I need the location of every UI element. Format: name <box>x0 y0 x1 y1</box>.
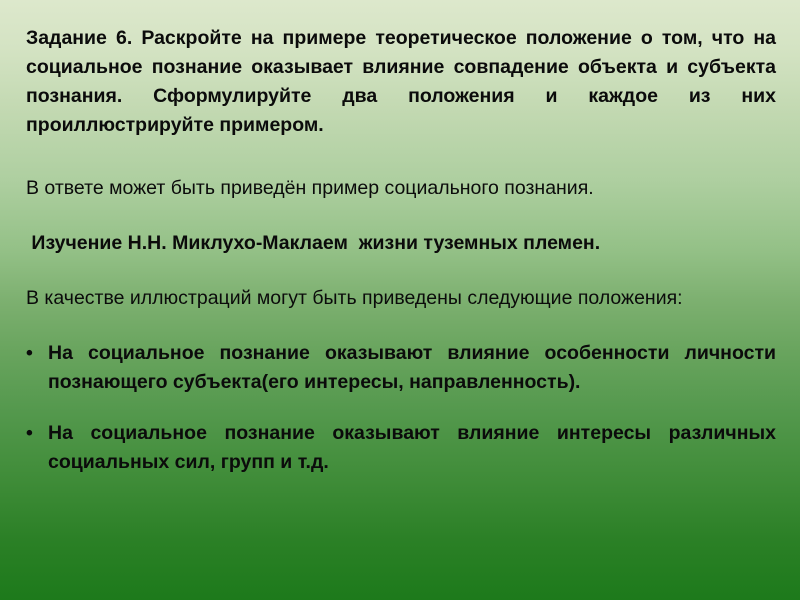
slide-canvas: Задание 6. Раскройте на примере теоретич… <box>0 0 800 600</box>
spacer-between-bullets <box>26 397 776 419</box>
spacer-after-illustration-intro <box>26 313 776 339</box>
spacer-after-example <box>26 258 776 284</box>
example-statement: Изучение Н.Н. Миклухо-Маклаем жизни тузе… <box>26 229 776 258</box>
answer-intro-paragraph: В ответе может быть приведён пример соци… <box>26 174 776 203</box>
task-heading: Задание 6. Раскройте на примере теоретич… <box>26 24 776 140</box>
bullet-item-social-forces: • На социальное познание оказывают влиян… <box>26 419 776 477</box>
spacer-after-heading <box>26 140 776 174</box>
bullet-point-icon: • <box>26 339 48 368</box>
illustration-intro-paragraph: В качестве иллюстраций могут быть привед… <box>26 284 776 313</box>
bullet-point-icon: • <box>26 419 48 448</box>
slide-content: Задание 6. Раскройте на примере теоретич… <box>26 24 776 477</box>
bullet-item-personality-label: На социальное познание оказывают влияние… <box>48 339 776 397</box>
bullet-item-social-forces-label: На социальное познание оказывают влияние… <box>48 419 776 477</box>
bullet-item-personality: • На социальное познание оказывают влиян… <box>26 339 776 397</box>
spacer-after-answer-intro <box>26 203 776 229</box>
